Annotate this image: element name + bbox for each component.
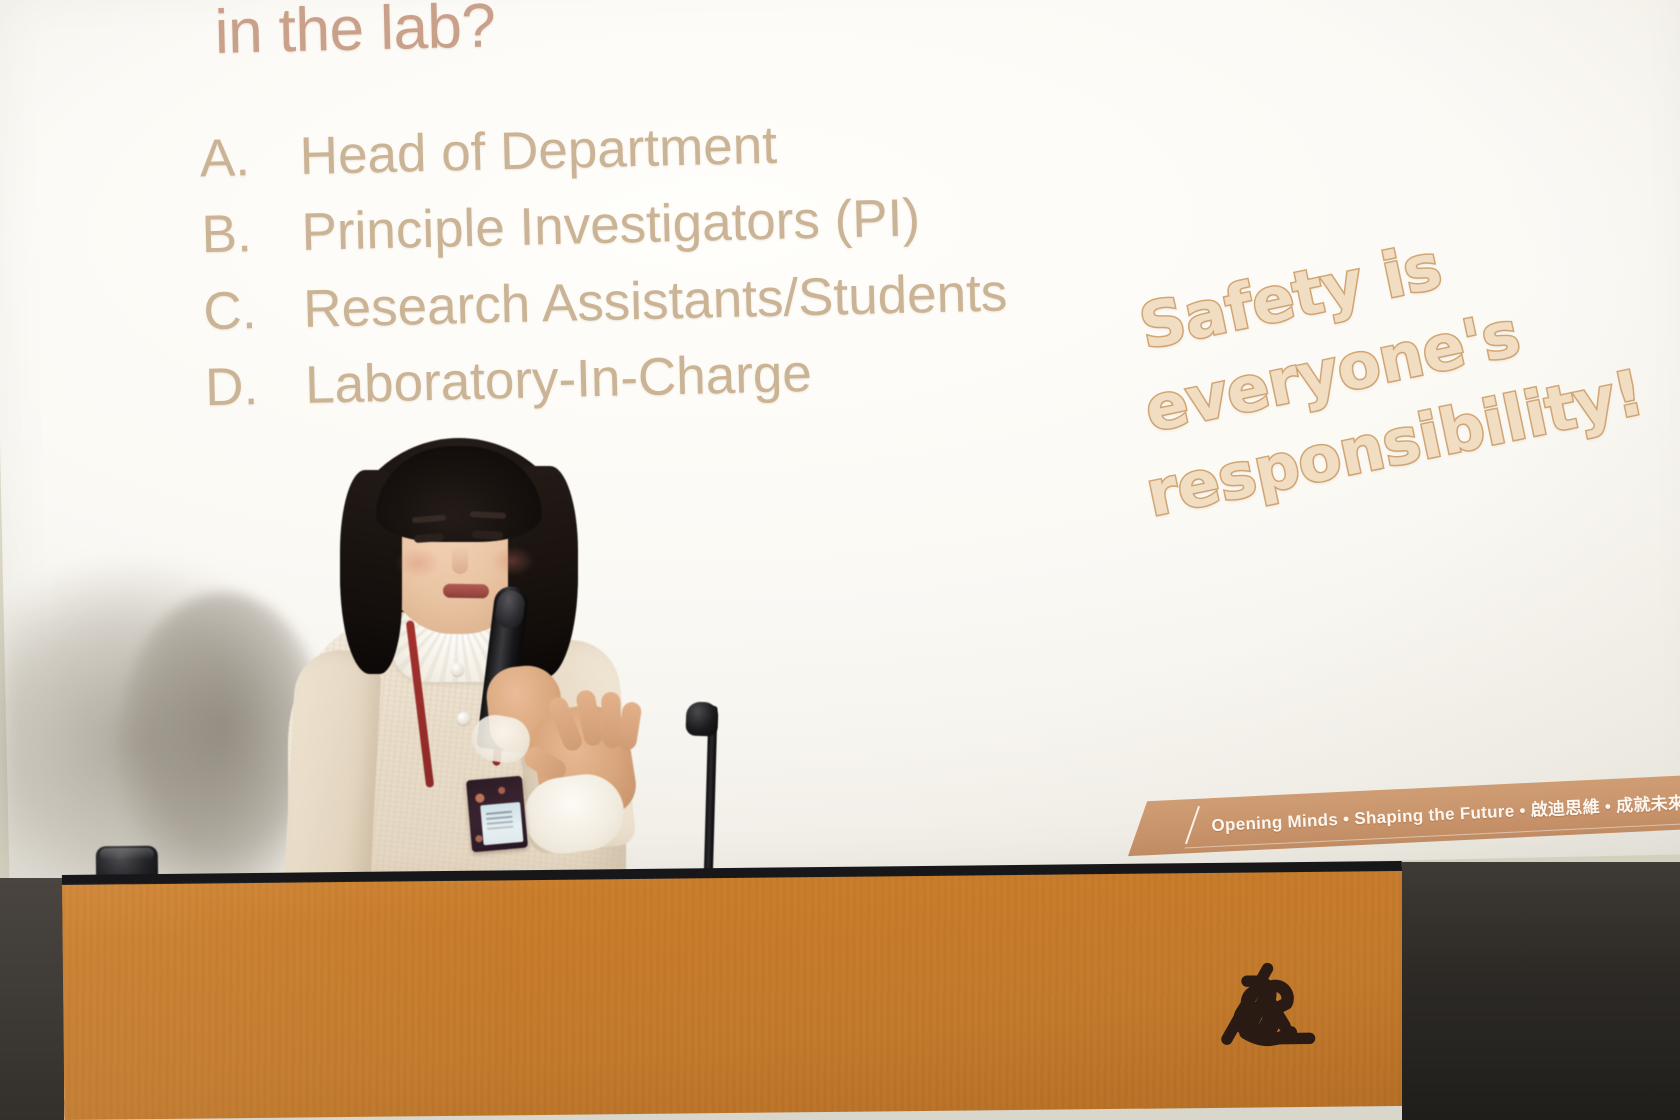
nose (452, 546, 468, 574)
id-badge (466, 776, 528, 853)
cardigan-button (457, 712, 470, 725)
presentation-photo: …e working environment in the lab? A. He… (0, 0, 1680, 1120)
polyu-logo (1205, 951, 1330, 1076)
badge-card (480, 802, 523, 845)
speaker-left-arm (284, 648, 383, 898)
stage-left-dark (0, 878, 64, 1120)
eye-right (472, 530, 503, 540)
wood-grain (62, 870, 1404, 1120)
cheek-right (490, 546, 534, 576)
lectern-podium (62, 870, 1404, 1120)
desk-microphone-head (685, 701, 718, 736)
mouth (443, 584, 489, 599)
cardigan-button (451, 663, 464, 676)
stage-right-dark (1402, 862, 1680, 1120)
cheek-left (396, 548, 440, 578)
